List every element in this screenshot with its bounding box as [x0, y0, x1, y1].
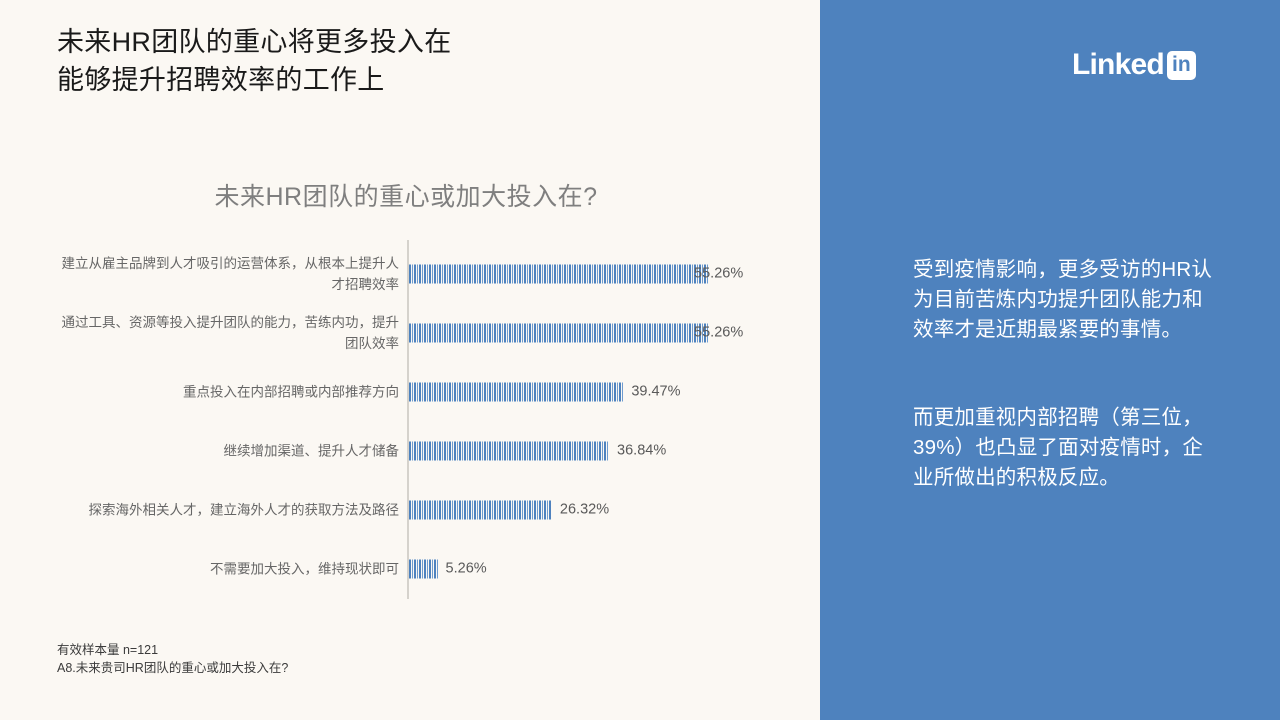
bar-value-label: 26.32% — [560, 502, 609, 518]
bar-row: 通过工具、资源等投入提升团队的能力，苦练内功，提升团队效率55.26% — [0, 303, 812, 362]
bar — [409, 264, 709, 283]
bar-value-label: 55.26% — [694, 325, 743, 341]
footnote-sample-size: 有效样本量 n=121 — [57, 641, 288, 659]
bar-with-value: 55.26% — [409, 323, 743, 342]
bar-with-value: 39.47% — [409, 382, 681, 401]
slide-root: 未来HR团队的重心将更多投入在 能够提升招聘效率的工作上 未来HR团队的重心或加… — [0, 0, 1280, 720]
footnote: 有效样本量 n=121 A8.未来贵司HR团队的重心或加大投入在? — [57, 641, 288, 677]
bar-category-label: 不需要加大投入，维持现状即可 — [49, 558, 399, 579]
chart-title: 未来HR团队的重心或加大投入在? — [0, 177, 812, 213]
bar-category-label: 探索海外相关人才，建立海外人才的获取方法及路径 — [49, 499, 399, 520]
bar-value-label: 39.47% — [631, 384, 680, 400]
bar-with-value: 26.32% — [409, 500, 609, 519]
bar-value-label: 5.26% — [446, 561, 487, 577]
bar-category-label: 通过工具、资源等投入提升团队的能力，苦练内功，提升团队效率 — [49, 312, 399, 354]
bar-with-value: 36.84% — [409, 441, 666, 460]
bar-with-value: 55.26% — [409, 264, 743, 283]
bar-row: 重点投入在内部招聘或内部推荐方向39.47% — [0, 362, 812, 421]
bar-row: 建立从雇主品牌到人才吸引的运营体系，从根本上提升人才招聘效率55.26% — [0, 244, 812, 303]
panel-paragraph-1: 受到疫情影响，更多受访的HR认为目前苦炼内功提升团队能力和效率才是近期最紧要的事… — [913, 255, 1223, 345]
bar-row: 不需要加大投入，维持现状即可5.26% — [0, 539, 812, 598]
linkedin-wordmark: Linked — [1072, 50, 1164, 80]
page-title: 未来HR团队的重心将更多投入在 能够提升招聘效率的工作上 — [57, 23, 777, 99]
bar-category-label: 继续增加渠道、提升人才储备 — [49, 440, 399, 461]
linkedin-logo: Linked in — [1072, 48, 1196, 82]
linkedin-in-icon: in — [1167, 51, 1196, 80]
bar-category-label: 建立从雇主品牌到人才吸引的运营体系，从根本上提升人才招聘效率 — [49, 253, 399, 295]
bar — [409, 559, 438, 578]
bar-row: 探索海外相关人才，建立海外人才的获取方法及路径26.32% — [0, 480, 812, 539]
bar — [409, 323, 709, 342]
right-blue-panel: Linked in 受到疫情影响，更多受访的HR认为目前苦炼内功提升团队能力和效… — [820, 0, 1280, 720]
bar-with-value: 5.26% — [409, 559, 487, 578]
bar-row: 继续增加渠道、提升人才储备36.84% — [0, 421, 812, 480]
bar — [409, 500, 552, 519]
bar-value-label: 36.84% — [617, 443, 666, 459]
panel-paragraph-2: 而更加重视内部招聘（第三位，39%）也凸显了面对疫情时，企业所做出的积极反应。 — [913, 403, 1223, 493]
bar-category-label: 重点投入在内部招聘或内部推荐方向 — [49, 381, 399, 402]
bar-value-label: 55.26% — [694, 266, 743, 282]
bar — [409, 441, 609, 460]
bar-chart: 建立从雇主品牌到人才吸引的运营体系，从根本上提升人才招聘效率55.26%通过工具… — [0, 240, 812, 600]
footnote-question: A8.未来贵司HR团队的重心或加大投入在? — [57, 659, 288, 677]
bar — [409, 382, 623, 401]
